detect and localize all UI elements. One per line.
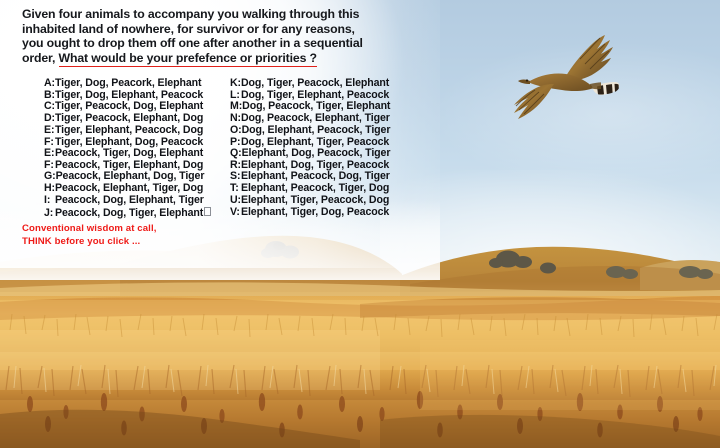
option-text: Elephant, Dog, Peacock, Tiger xyxy=(242,147,391,159)
option-text: Tiger, Dog, Peacork, Elephant xyxy=(55,77,201,89)
option-text: Tiger, Elephant, Dog, Peacock xyxy=(55,136,203,148)
question-line-4: order, What would be your prefefence or … xyxy=(22,51,402,68)
option-key: O: xyxy=(230,125,242,137)
option-text: Elephant, Peacock, Tiger, Dog xyxy=(241,182,389,194)
option-text: Peacock, Elephant, Tiger, Dog xyxy=(55,182,203,194)
warning-line-1: Conventional wisdom at call, xyxy=(22,222,156,235)
option-row[interactable]: J:Peacock, Dog, Tiger, Elephant xyxy=(44,207,211,220)
question-prompt: Given four animals to accompany you walk… xyxy=(22,7,402,67)
option-text: Elephant, Peacock, Dog, Tiger xyxy=(241,170,390,182)
question-line-2: inhabited land of nowhere, for survivor … xyxy=(22,22,402,37)
option-text: Dog, Peacock, Elephant, Tiger xyxy=(241,112,390,124)
option-key: E: xyxy=(44,125,55,137)
option-key: V: xyxy=(230,207,241,219)
question-line-4-prefix: order, xyxy=(22,51,59,65)
option-text: Dog, Peacock, Tiger, Elephant xyxy=(242,100,390,112)
option-group-left-top: A:Tiger, Dog, Peacork, Elephant B:Tiger,… xyxy=(44,78,203,148)
option-row[interactable]: V:Elephant, Tiger, Dog, Peacock xyxy=(230,207,390,219)
option-key: E: xyxy=(44,148,55,160)
option-key: K: xyxy=(230,78,241,90)
option-key: Q: xyxy=(230,148,242,160)
question-line-1: Given four animals to accompany you walk… xyxy=(22,7,402,22)
poster-canvas: Given four animals to accompany you walk… xyxy=(0,0,720,448)
option-text: Elephant, Dog, Tiger, Peacock xyxy=(241,159,389,171)
option-key: I: xyxy=(44,195,55,207)
option-text: Peacock, Dog, Elephant, Tiger xyxy=(55,194,204,206)
option-group-right-top: K:Dog, Tiger, Peacock, Elephant L:Dog, T… xyxy=(230,78,390,148)
option-text: Peacock, Dog, Tiger, Elephant xyxy=(55,207,203,219)
warning-line-2: THINK before you click ... xyxy=(22,235,156,248)
option-text: Elephant, Tiger, Dog, Peacock xyxy=(241,206,389,218)
option-key: J: xyxy=(44,208,55,220)
option-text: Peacock, Tiger, Elephant, Dog xyxy=(55,159,203,171)
question-highlight: What would be your prefefence or priorit… xyxy=(59,51,317,68)
option-text: Tiger, Peacock, Elephant, Dog xyxy=(55,112,203,124)
trailing-glyph-box xyxy=(204,207,211,216)
option-text: Peacock, Elephant, Dog, Tiger xyxy=(56,170,205,182)
option-text: Peacock, Tiger, Dog, Elephant xyxy=(55,147,203,159)
option-group-left-bottom: E:Peacock, Tiger, Dog, Elephant F:Peacoc… xyxy=(44,148,211,219)
option-key: A: xyxy=(44,78,55,90)
option-group-right-bottom: Q:Elephant, Dog, Peacock, Tiger R:Elepha… xyxy=(230,148,390,218)
option-text: Dog, Elephant, Tiger, Peacock xyxy=(241,136,389,148)
option-text: Tiger, Dog, Elephant, Peacock xyxy=(55,89,203,101)
option-text: Tiger, Elephant, Peacock, Dog xyxy=(55,124,203,136)
option-text: Dog, Tiger, Elephant, Peacock xyxy=(241,89,389,101)
option-key: U: xyxy=(230,195,241,207)
warning-note: Conventional wisdom at call, THINK befor… xyxy=(22,222,156,248)
option-text: Dog, Elephant, Peacock, Tiger xyxy=(242,124,391,136)
option-text: Dog, Tiger, Peacock, Elephant xyxy=(241,77,389,89)
option-row[interactable]: I:Peacock, Dog, Elephant, Tiger xyxy=(44,195,211,207)
option-text: Elephant, Tiger, Peacock, Dog xyxy=(241,194,389,206)
question-line-3: you ought to drop them off one after ano… xyxy=(22,36,402,51)
option-text: Tiger, Peacock, Dog, Elephant xyxy=(55,100,203,112)
